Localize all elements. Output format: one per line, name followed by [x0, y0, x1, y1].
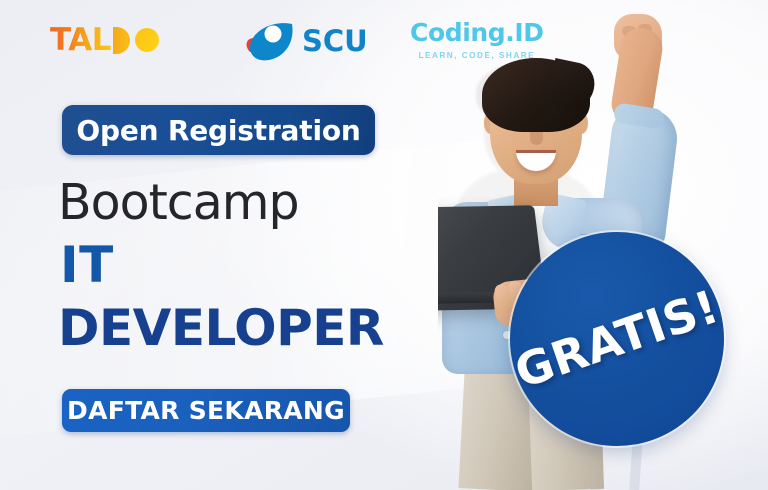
logo-scu: SCU [240, 18, 368, 64]
headline-it: IT [60, 240, 114, 290]
open-registration-label: Open Registration [76, 114, 360, 147]
gratis-badge: GRATIS! [510, 232, 724, 446]
headline-developer: DEVELOPER [58, 303, 384, 353]
partner-logos: TAL SCU Coding.ID LEARN, CODE, SHARE [0, 0, 768, 86]
headline-bootcamp: Bootcamp [58, 178, 299, 227]
daftar-sekarang-button[interactable]: DAFTAR SEKARANG [62, 389, 350, 432]
open-registration-badge: Open Registration [62, 105, 375, 155]
gratis-label: GRATIS! [508, 279, 725, 399]
promo-banner: TAL SCU Coding.ID LEARN, CODE, SHARE Ope… [0, 0, 768, 490]
scu-leaf-icon [240, 18, 298, 64]
logo-taldio-dot-mark [135, 28, 159, 52]
logo-scu-text: SCU [302, 27, 368, 56]
logo-taldio-text: TAL [50, 25, 111, 56]
logo-coding-id-tagline: LEARN, CODE, SHARE [410, 51, 544, 60]
daftar-sekarang-label: DAFTAR SEKARANG [67, 396, 345, 425]
logo-coding-id: Coding.ID LEARN, CODE, SHARE [410, 20, 544, 60]
logo-taldio-d-mark [113, 27, 130, 54]
logo-taldio: TAL [50, 22, 159, 58]
logo-coding-id-text: Coding.ID [410, 20, 544, 46]
nose [530, 132, 543, 145]
